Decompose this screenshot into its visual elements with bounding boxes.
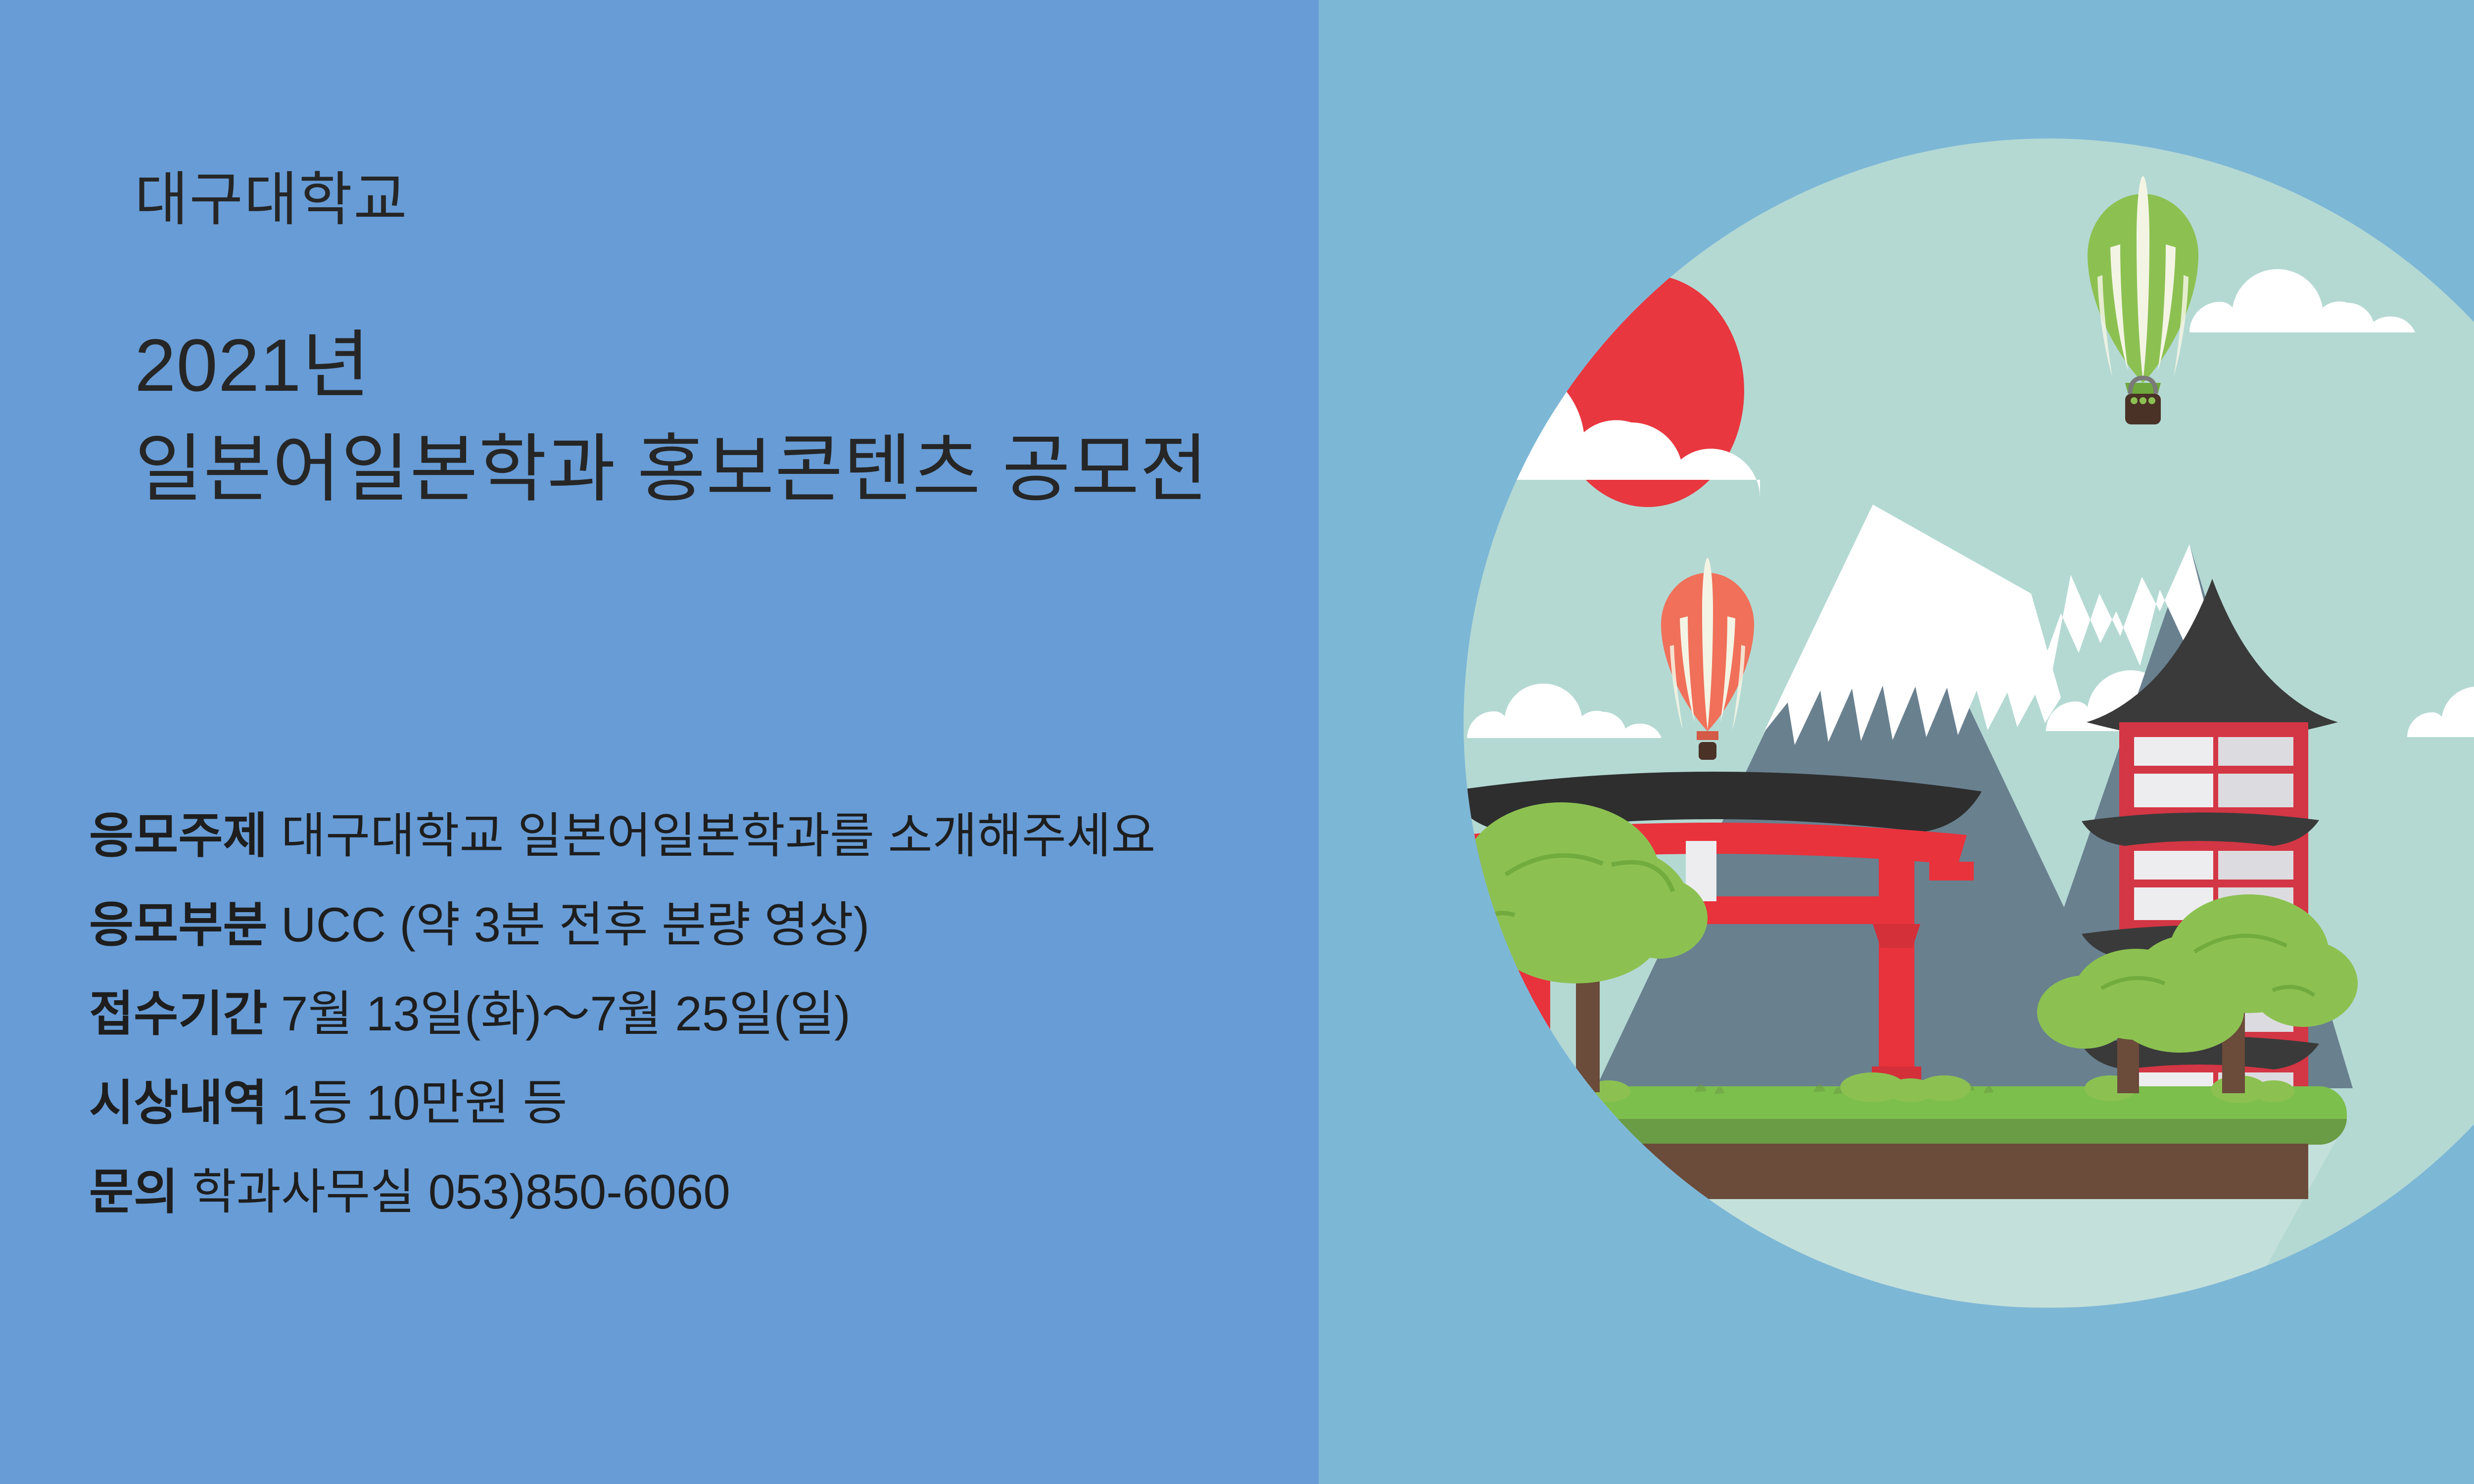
detail-value-contact: 학과사무실 053)850-6060 [192,1164,730,1219]
left-text-panel: 대구대학교 2021년 일본어일본학과 홍보콘텐츠 공모전 응모주제 대구대학교… [0,0,1319,1484]
detail-label-topic: 응모주제 [89,808,268,863]
detail-value-period: 7월 13일(화)〜7월 25일(일) [281,986,851,1041]
detail-row: 문의 학과사무실 053)850-6060 [89,1167,1277,1216]
japan-scene [1319,0,2474,1484]
detail-label-category: 응모부분 [89,897,268,952]
text-wrapper: 대구대학교 2021년 일본어일본학과 홍보콘텐츠 공모전 응모주제 대구대학교… [0,0,1319,1484]
detail-row: 응모주제 대구대학교 일본어일본학과를 소개해주세요 [89,811,1277,860]
japan-landmark-illustration [1319,0,2474,1484]
poster-title-main: 일본어일본학과 홍보콘텐츠 공모전 [135,430,1208,509]
detail-value-prize: 1등 10만원 등 [281,1075,568,1130]
detail-value-topic: 대구대학교 일본어일본학과를 소개해주세요 [281,808,1156,863]
university-name: 대구대학교 [135,168,408,232]
detail-row: 시상내역 1등 10만원 등 [89,1078,1277,1127]
poster-title-year: 2021년 [135,326,371,405]
detail-value-category: UCC (약 3분 전후 분량 영상) [281,897,870,952]
detail-label-period: 접수기간 [89,986,268,1041]
poster-canvas: 대구대학교 2021년 일본어일본학과 홍보콘텐츠 공모전 응모주제 대구대학교… [0,0,2474,1484]
detail-row: 접수기간 7월 13일(화)〜7월 25일(일) [89,989,1277,1038]
pagoda-eave [2082,812,2319,846]
detail-row: 응모부분 UCC (약 3분 전후 분량 영상) [89,900,1277,949]
right-illustration-panel [1319,0,2474,1484]
detail-label-prize: 시상내역 [89,1075,268,1130]
detail-label-contact: 문의 [89,1164,178,1219]
details-list: 응모주제 대구대학교 일본어일본학과를 소개해주세요 응모부분 UCC (약 3… [89,811,1277,1216]
soil-platform [1566,1144,2308,1199]
balloon-small-red-top-icon [1897,36,1936,132]
cloud-small-top [1943,77,2141,133]
